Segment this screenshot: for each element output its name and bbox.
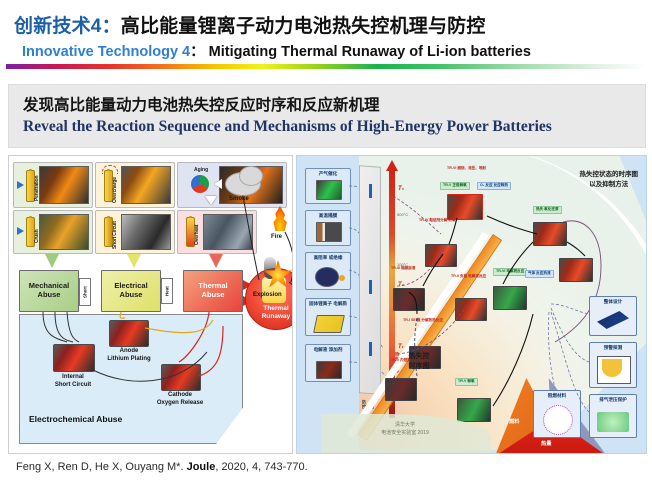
rainbow-divider	[6, 64, 646, 69]
fire-icon	[271, 206, 289, 232]
label-smoke: Smoke	[229, 196, 249, 202]
link-chip-heat: Heat	[161, 278, 173, 304]
reaction-chip-10: 气体 反应热流	[525, 270, 554, 278]
cell-icon-cathode-oxygen	[161, 364, 201, 391]
left-box-2-dot-icon	[339, 275, 345, 281]
arrow-down-mech-icon	[45, 254, 59, 268]
citation-journal: Joule	[187, 461, 216, 473]
citation-authors: Feng X, Ren D, He X, Ouyang M*.	[16, 461, 184, 473]
temp-value-0: 500°C	[397, 212, 408, 217]
wall-tick-t2	[369, 280, 372, 294]
reaction-chip-0: TR-VI 燃烧、泄压、喷射	[445, 166, 488, 172]
link-chip-short-label: Short	[83, 286, 88, 298]
timeline-caption-line1: 热失控	[409, 353, 430, 360]
arrow-right-icon	[17, 227, 24, 235]
arrow-down-elec-icon	[127, 254, 141, 268]
right-box-1-curve-icon	[602, 359, 622, 377]
thermal-runaway-label: ThermalRunaway	[246, 305, 293, 321]
right-box-2: 排气泄压保护	[589, 394, 637, 438]
electrochemical-abuse-title: Electrochemical Abuse	[29, 414, 122, 424]
arrow-right-icon	[17, 181, 24, 189]
page-title-cn-highlight: 创新技术4：	[14, 16, 121, 37]
slide-root: 创新技术4：高比能量锂离子动力电池热失控机理与防控 Innovative Tec…	[0, 0, 652, 491]
abuse-box-thermal-label: ThermalAbuse	[198, 282, 227, 299]
left-box-3-thumb	[313, 315, 345, 333]
label-fire: Fire	[271, 234, 282, 240]
reaction-chip-11: 热失 氧化还原	[533, 206, 562, 214]
page-title-en: Innovative Technology 4： Mitigating Ther…	[22, 40, 531, 61]
left-box-3-label: 固体锂离子 电解质	[306, 301, 350, 306]
temperature-axis-arrow-icon	[386, 160, 398, 171]
reaction-chip-5: TR-II 负极 电解液反应	[449, 274, 488, 280]
caption-internal-short-circuit: InternalShort Circuit	[45, 374, 101, 389]
abuse-box-mechanical-label: MechanicalAbuse	[29, 282, 69, 299]
temp-mark-t3: T₃	[398, 186, 404, 192]
reaction-cell-5	[385, 378, 417, 401]
trigger-photo-overheat	[203, 214, 253, 250]
watermark-line1: 清华大学	[395, 422, 415, 428]
page-title-cn: 创新技术4：高比能量锂离子动力电池热失控机理与防控	[14, 11, 486, 38]
caption-cathode-oxygen-release: CathodeOxygen Release	[149, 392, 211, 407]
wall-tick-t1	[369, 342, 372, 356]
reaction-chip-9: TR-VI 电解质反应	[493, 268, 527, 276]
page-title-en-highlight: Innovative Technology 4	[22, 44, 190, 60]
citation-rest: , 2020, 4, 743-770.	[215, 461, 307, 473]
panel-note-line2: 以及抑制方法	[589, 181, 628, 188]
left-box-0: 产气催化	[305, 168, 351, 204]
trigger-card-penetration: Penetration	[13, 162, 93, 208]
trigger-label-aging: Aging	[194, 167, 208, 173]
trigger-card-short-circuit: Short Circuit	[95, 210, 175, 254]
reaction-chip-1: TR-V 正极释氧	[440, 182, 470, 190]
trigger-card-overcharge: Overcharge	[95, 162, 175, 208]
right-box-0: 整体设计	[589, 296, 637, 336]
trigger-label-short-circuit: Short Circuit	[113, 215, 118, 249]
figure-abuse-pathway: Penetration Overcharge Aging Crush Short…	[8, 155, 293, 454]
reaction-chip-4: TR-III 隔膜崩溃	[389, 266, 417, 272]
cell-icon-anode-plating	[109, 320, 149, 347]
arrow-left-icon	[214, 179, 222, 189]
left-box-2-thumb	[315, 267, 339, 287]
citation: Feng X, Ren D, He X, Ouyang M*. Joule, 2…	[16, 461, 308, 473]
reaction-cell-main	[447, 194, 483, 220]
page-title-en-rest: ： Mitigating Thermal Runaway of Li-ion b…	[190, 44, 531, 60]
reaction-cell-9	[559, 258, 593, 282]
cycle-icon	[191, 175, 209, 193]
trigger-card-crush: Crush	[13, 210, 93, 254]
left-box-4: 电解液 添加剂	[305, 344, 351, 382]
reaction-cell-7	[493, 286, 527, 310]
right-box-3-thumb	[543, 405, 573, 435]
right-box-3-label: 阻燃材料	[534, 393, 580, 398]
right-box-1: 预警探测	[589, 342, 637, 388]
trigger-photo-crush	[39, 214, 89, 250]
left-box-4-thumb	[316, 361, 342, 379]
smoke-cloud-icon-2	[239, 166, 263, 186]
arrow-down-ther-icon	[209, 254, 223, 268]
left-box-1-label: 高温隔膜	[306, 213, 350, 218]
watermark: 清华大学 电池安全实验室 2019	[345, 422, 465, 437]
trigger-label-overheat: Overheat	[195, 219, 200, 245]
reaction-cell-2	[393, 288, 425, 311]
fire-triangle-heat-label: 热量	[541, 440, 551, 447]
abuse-box-mechanical: MechanicalAbuse	[19, 270, 79, 312]
right-box-0-label: 整体设计	[590, 299, 636, 304]
left-box-4-label: 电解液 添加剂	[306, 347, 350, 352]
left-box-2: 高阻率 或绝缘	[305, 252, 351, 290]
reaction-chip-2: O₂ 反应 反应释热	[477, 182, 511, 190]
timeline-caption-line2: 时序图	[409, 363, 430, 370]
left-box-0-label: 产气催化	[306, 171, 350, 176]
cell-icon-internal-short	[53, 344, 95, 372]
right-box-1-label: 预警探测	[590, 345, 636, 350]
left-box-0-thumb	[316, 180, 342, 200]
caption-anode-lithium-plating: AnodeLithium Plating	[99, 348, 159, 363]
reaction-cell-1	[425, 244, 457, 267]
watermark-line2: 电池安全实验室 2019	[381, 430, 429, 436]
banner-text-cn: 发现高比能量动力电池热失控反应时序和反应新机理	[23, 93, 380, 115]
trigger-photo-penetration	[39, 166, 89, 204]
link-chip-short: Short	[79, 278, 91, 306]
panel-note-line1: 热失控状态的时序图	[580, 171, 639, 178]
left-box-1: 高温隔膜	[305, 210, 351, 246]
abuse-box-electrical-label: ElectricalAbuse	[114, 282, 147, 299]
arrow-down-icon	[205, 196, 217, 205]
abuse-box-thermal: ThermalAbuse	[183, 270, 243, 312]
reaction-cell-8	[533, 222, 567, 246]
label-explosion: Explosion	[253, 292, 282, 298]
subtitle-banner: 发现高比能量动力电池热失控反应时序和反应新机理 Reveal the React…	[8, 84, 646, 148]
wall-tick-t3	[369, 184, 372, 198]
thermal-runaway-sphere: ThermalRunaway	[245, 268, 293, 330]
timeline-caption: 热失控 时序图	[389, 352, 449, 372]
panel-note: 热失控状态的时序图 以及抑制方法	[580, 170, 639, 191]
link-chip-heat-label: Heat	[165, 286, 170, 296]
reaction-chip-3: TR-IV 黏结剂分解 析氧	[417, 218, 458, 224]
right-box-0-thumb	[597, 311, 629, 329]
page-title-cn-rest: 高比能量锂离子动力电池热失控机理与防控	[121, 16, 486, 37]
left-box-2-label: 高阻率 或绝缘	[306, 255, 350, 260]
trigger-photo-short-circuit	[121, 214, 171, 250]
right-box-3: 阻燃材料	[533, 390, 581, 438]
trigger-card-overheat: Overheat	[177, 210, 257, 254]
banner-text-en: Reveal the Reaction Sequence and Mechani…	[23, 118, 552, 136]
fire-triangle-fuel-label: 燃料	[509, 418, 519, 425]
reaction-cell-3	[455, 298, 487, 321]
figure-thermal-runaway-timeline: 热失控状态的时序图 以及抑制方法 产气催化 高温隔膜 高阻率 或绝缘 固体锂离子…	[296, 155, 647, 454]
reaction-chip-8: TR-V 释氧	[455, 378, 478, 386]
right-box-2-thumb	[597, 412, 629, 432]
reaction-cell-6	[457, 398, 491, 422]
trigger-photo-overcharge	[121, 166, 171, 204]
left-box-1-thumb	[316, 222, 342, 242]
abuse-box-electrical: ElectricalAbuse	[101, 270, 161, 312]
left-box-3: 固体锂离子 电解质	[305, 298, 351, 336]
recycle-arc-icon	[102, 165, 118, 174]
reaction-chip-6: TR-I SEI膜 分解放热反应	[401, 318, 445, 324]
right-box-2-label: 排气泄压保护	[590, 397, 636, 402]
